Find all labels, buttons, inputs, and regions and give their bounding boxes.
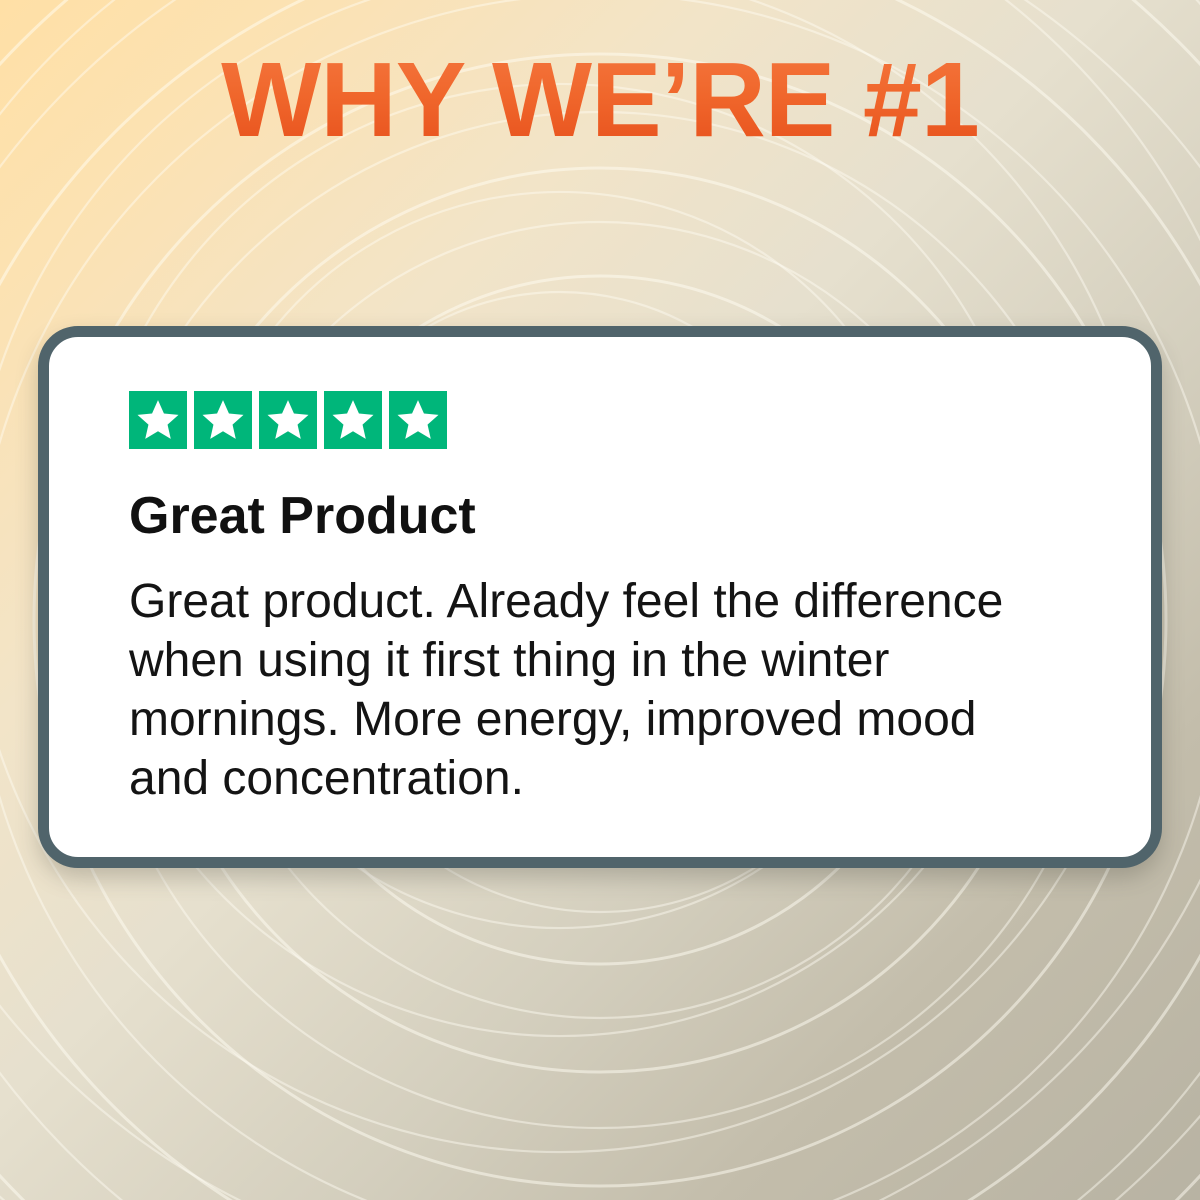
page-title: WHY WE’RE #1: [0, 44, 1200, 156]
star-icon-1: [129, 391, 187, 449]
review-title: Great Product: [129, 490, 1151, 542]
star-icon-4: [324, 391, 382, 449]
review-body-text: Great product. Already feel the differen…: [129, 572, 1069, 808]
star-icon-5: [389, 391, 447, 449]
review-card: Great Product Great product. Already fee…: [38, 326, 1162, 868]
promo-graphic: WHY WE’RE #1 Great Pr: [0, 0, 1200, 1200]
star-icon-3: [259, 391, 317, 449]
star-icon-2: [194, 391, 252, 449]
review-card-content: Great Product Great product. Already fee…: [49, 337, 1151, 808]
star-rating: [129, 391, 1151, 449]
